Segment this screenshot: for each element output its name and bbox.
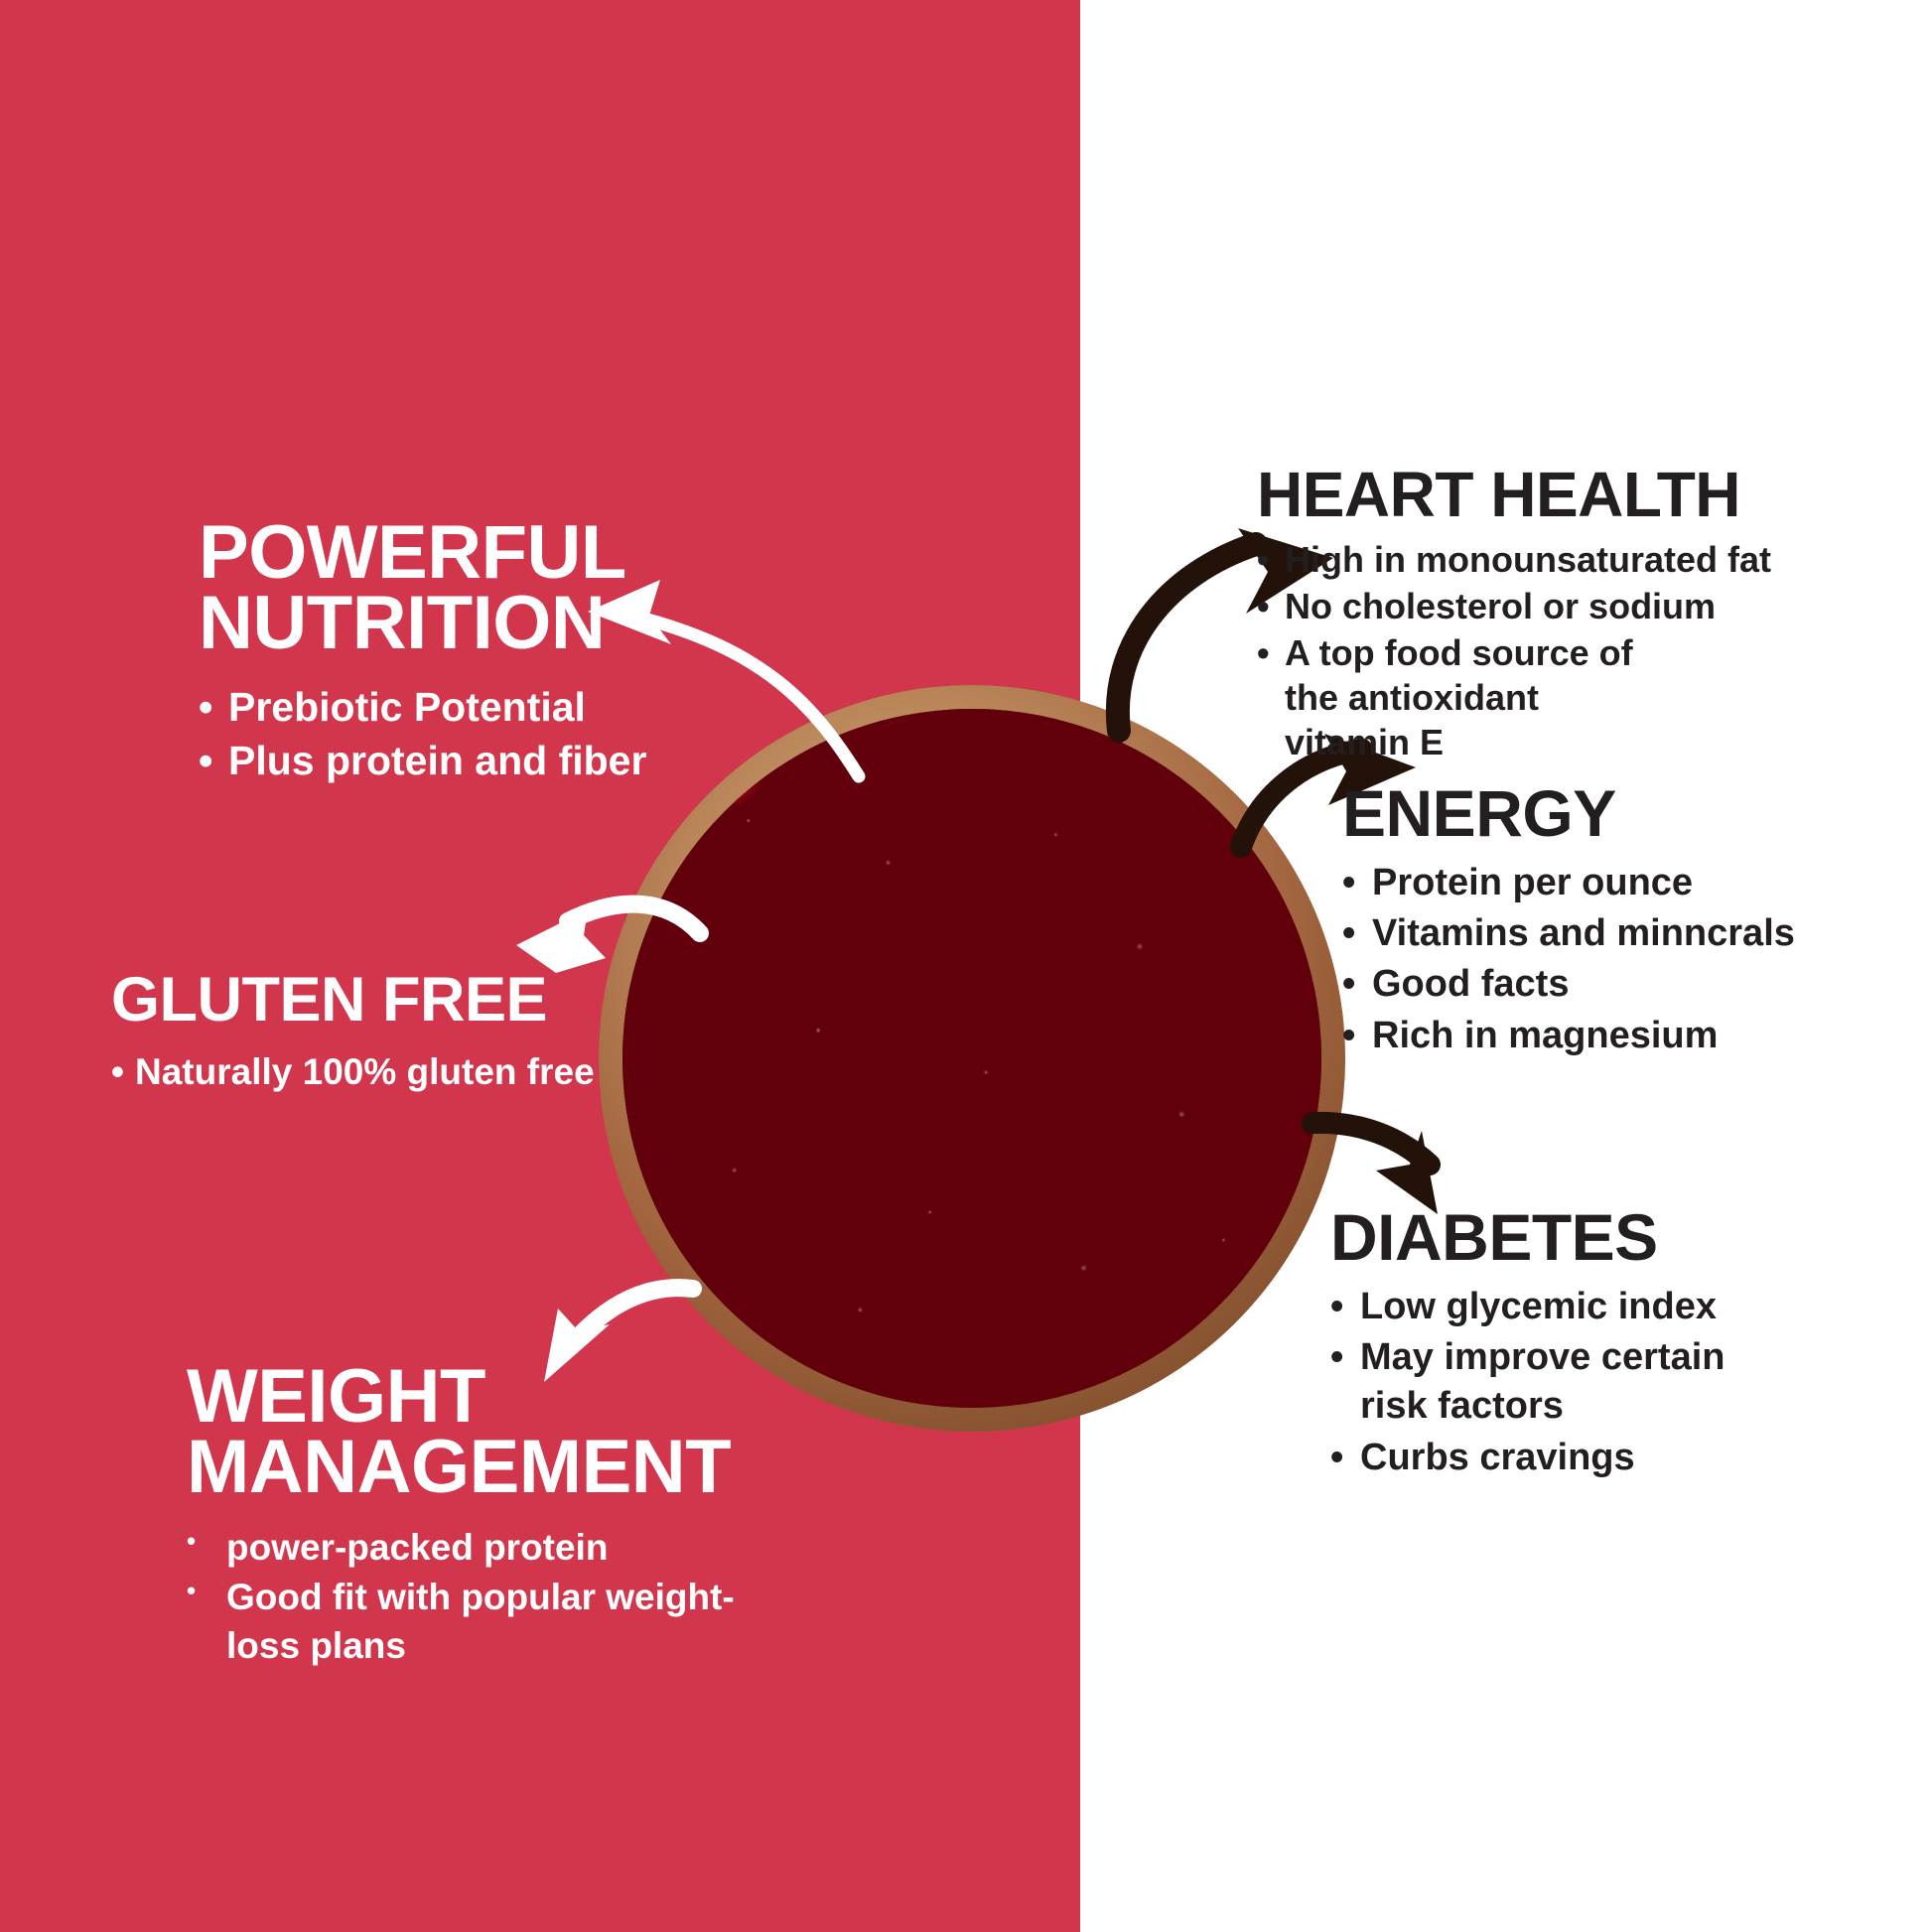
heart-health-bullet-list: • High in monounsaturated fat • No chole… <box>1257 537 1773 764</box>
bullet-glyph: • <box>199 682 212 734</box>
list-item: • High in monounsaturated fat <box>1257 537 1773 582</box>
weight-management-title: WEIGHT MANAGEMENT <box>187 1362 822 1502</box>
weight-management-title-line2: MANAGEMENT <box>187 1433 822 1503</box>
bullet-glyph: • <box>199 736 212 787</box>
bullet-glyph: • <box>1257 537 1270 582</box>
powerful-nutrition-bullet-list: • Prebiotic Potential • Plus protein and… <box>199 682 834 786</box>
bullet-text: May improve certain risk factors <box>1360 1333 1727 1432</box>
heart-health-title: HEART HEALTH <box>1257 465 1773 525</box>
section-heart-health: HEART HEALTH • High in monounsaturated f… <box>1257 465 1773 766</box>
bullet-glyph: • <box>1330 1333 1343 1382</box>
bullet-text: Rich in magnesium <box>1372 1012 1718 1060</box>
bullet-text: A top food source of the antioxidant vit… <box>1285 630 1652 764</box>
bullet-glyph: • <box>187 1525 196 1559</box>
weight-management-title-line1: WEIGHT <box>187 1362 822 1433</box>
bullet-text: Curbs cravings <box>1360 1434 1635 1482</box>
bullet-glyph: • <box>111 1049 124 1096</box>
powerful-nutrition-title-line2: NUTRITION <box>199 589 834 659</box>
list-item: • Protein per ounce <box>1342 859 1839 907</box>
section-diabetes: DIABETES • Low glycemic index • May impr… <box>1330 1206 1807 1484</box>
list-item: • May improve certain risk factors <box>1330 1333 1807 1432</box>
bullet-text: Prebiotic Potential <box>228 682 586 734</box>
bullet-glyph: • <box>1330 1434 1343 1482</box>
bullet-text: Naturally 100% gluten free <box>135 1049 595 1096</box>
energy-title: ENERGY <box>1342 782 1839 845</box>
section-powerful-nutrition: POWERFUL NUTRITION • Prebiotic Potential… <box>199 518 834 789</box>
list-item: • Vitamins and minncrals <box>1342 909 1839 958</box>
gluten-free-title: GLUTEN FREE <box>111 971 627 1030</box>
bullet-glyph: • <box>1342 859 1355 907</box>
section-weight-management: WEIGHT MANAGEMENT • power-packed protein… <box>187 1362 822 1672</box>
bullet-text: Plus protein and fiber <box>228 736 646 787</box>
section-energy: ENERGY • Protein per ounce • Vitamins an… <box>1342 782 1839 1062</box>
bullet-text: No cholesterol or sodium <box>1285 584 1716 628</box>
list-item: • Good facts <box>1342 960 1839 1009</box>
bullet-text: Vitamins and minncrals <box>1372 909 1795 958</box>
bullet-glyph: • <box>1257 630 1270 675</box>
list-item: • A top food source of the antioxidant v… <box>1257 630 1773 764</box>
energy-bullet-list: • Protein per ounce • Vitamins and minnc… <box>1342 859 1839 1061</box>
bullet-text: Good fit with popular weight-loss plans <box>226 1574 792 1669</box>
bullet-glyph: • <box>1330 1283 1343 1331</box>
bullet-text: Good facts <box>1372 960 1569 1009</box>
bullet-glyph: • <box>1342 909 1355 958</box>
bullet-glyph: • <box>1342 960 1355 1009</box>
powerful-nutrition-title: POWERFUL NUTRITION <box>199 518 834 658</box>
list-item: • Good fit with popular weight-loss plan… <box>187 1574 792 1669</box>
list-item: • power-packed protein <box>187 1524 792 1572</box>
powerful-nutrition-title-line1: POWERFUL <box>199 518 834 589</box>
infographic-canvas: POWERFUL NUTRITION • Prebiotic Potential… <box>0 0 1932 1932</box>
bullet-text: Low glycemic index <box>1360 1283 1717 1331</box>
list-item: • Naturally 100% gluten free <box>111 1049 627 1096</box>
bullet-text: Protein per ounce <box>1372 859 1693 907</box>
list-item: • Rich in magnesium <box>1342 1012 1839 1060</box>
diabetes-title: DIABETES <box>1330 1206 1807 1269</box>
list-item: • Curbs cravings <box>1330 1434 1807 1482</box>
diabetes-bullet-list: • Low glycemic index • May improve certa… <box>1330 1283 1807 1483</box>
bullet-glyph: • <box>1257 584 1270 628</box>
bullet-text: High in monounsaturated fat <box>1285 537 1771 582</box>
list-item: • Low glycemic index <box>1330 1283 1807 1331</box>
gluten-free-bullet-list: • Naturally 100% gluten free <box>111 1049 627 1096</box>
list-item: • Prebiotic Potential <box>199 682 834 734</box>
bullet-glyph: • <box>1342 1012 1355 1060</box>
weight-management-bullet-list: • power-packed protein • Good fit with p… <box>187 1524 792 1669</box>
section-gluten-free: GLUTEN FREE • Naturally 100% gluten free <box>111 971 627 1097</box>
list-item: • Plus protein and fiber <box>199 736 834 787</box>
list-item: • No cholesterol or sodium <box>1257 584 1773 628</box>
bullet-glyph: • <box>187 1575 196 1608</box>
bullet-text: power-packed protein <box>226 1524 608 1572</box>
